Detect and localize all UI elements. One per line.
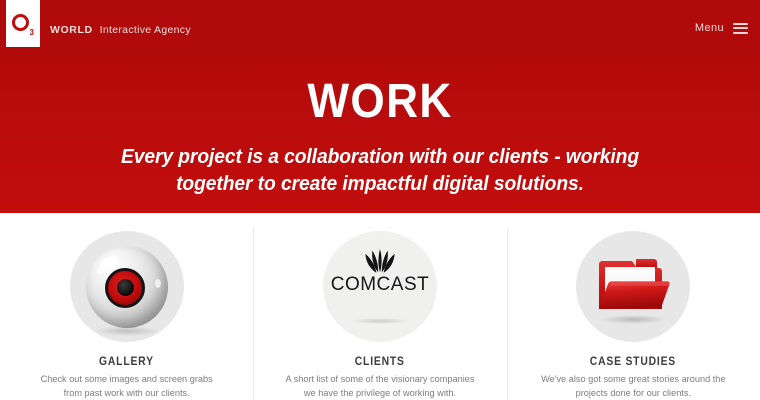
- card-description: A short list of some of the visionary co…: [285, 373, 475, 400]
- eyeball-shadow: [94, 326, 160, 336]
- hero-subtitle: Every project is a collaboration with ou…: [98, 143, 662, 197]
- logo-ring-shape: [12, 14, 29, 31]
- o3-logo-icon: 3: [11, 12, 35, 36]
- gallery-icon-circle: [70, 231, 184, 342]
- site-logo[interactable]: 3: [6, 0, 40, 47]
- card-title: GALLERY: [99, 356, 154, 368]
- card-clients[interactable]: COMCAST CLIENTS A short list of some of …: [253, 213, 506, 400]
- top-navigation-bar: 3 WORLDInteractive Agency Menu: [0, 0, 760, 58]
- folder-icon: [590, 251, 676, 323]
- card-description: Check out some images and screen grabs f…: [32, 373, 222, 400]
- menu-label: Menu: [695, 22, 724, 34]
- hamburger-icon[interactable]: [733, 23, 748, 34]
- comcast-wordmark: COMCAST: [331, 274, 430, 296]
- card-title: CASE STUDIES: [590, 356, 676, 368]
- card-case-studies[interactable]: CASE STUDIES We've also got some great s…: [507, 213, 760, 400]
- eyeball-icon: [86, 246, 168, 328]
- card-description: We've also got some great stories around…: [538, 373, 728, 400]
- card-title: CLIENTS: [355, 356, 405, 368]
- comcast-shadow: [351, 318, 409, 324]
- comcast-logo-icon: COMCAST: [331, 249, 430, 324]
- clients-icon-circle: COMCAST: [323, 231, 437, 342]
- eyeball-pupil: [117, 279, 134, 296]
- eyeball-highlight: [155, 279, 161, 288]
- brand-secondary: Interactive Agency: [100, 24, 191, 36]
- menu-button[interactable]: Menu: [695, 22, 748, 34]
- work-page: WORK Every project is a collaboration wi…: [0, 0, 760, 400]
- feature-card-row: GALLERY Check out some images and screen…: [0, 213, 760, 400]
- card-gallery[interactable]: GALLERY Check out some images and screen…: [0, 213, 253, 400]
- peacock-icon: [360, 249, 400, 273]
- logo-subscript: 3: [30, 29, 34, 37]
- brand-text[interactable]: WORLDInteractive Agency: [50, 24, 191, 36]
- hamburger-bar: [733, 32, 748, 34]
- folder-shape: [590, 251, 676, 323]
- hamburger-bar: [733, 23, 748, 25]
- case-studies-icon-circle: [576, 231, 690, 342]
- eyeball-highlight: [97, 268, 105, 274]
- brand-primary: WORLD: [50, 24, 93, 36]
- hamburger-bar: [733, 27, 748, 29]
- page-title: WORK: [307, 78, 452, 126]
- folder-shadow: [600, 315, 666, 324]
